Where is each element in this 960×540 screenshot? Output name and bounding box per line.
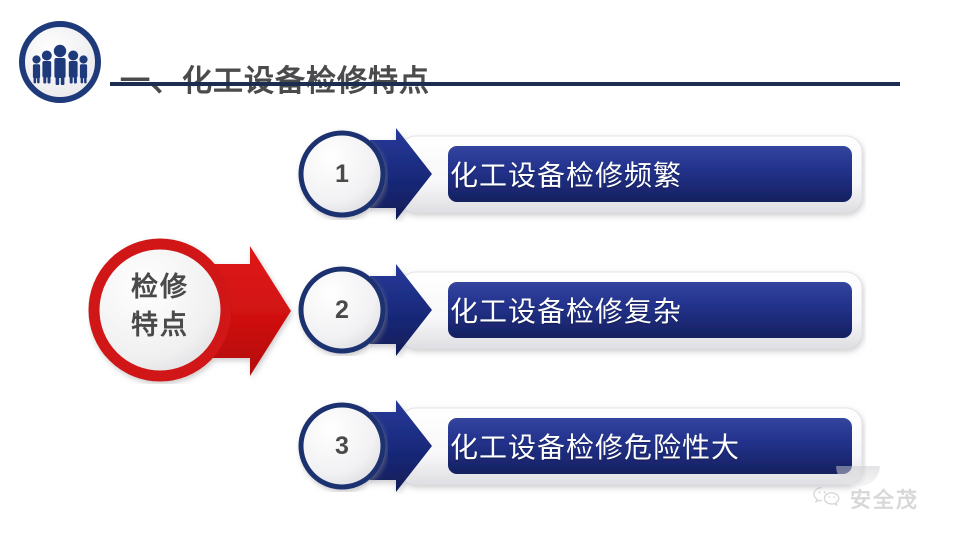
header-divider bbox=[110, 82, 900, 86]
step-circle[interactable] bbox=[296, 264, 388, 356]
feature-bar[interactable] bbox=[370, 398, 866, 494]
hub-badge-checkup-features bbox=[88, 238, 298, 384]
page-title: 一、化工设备检修特点 bbox=[120, 56, 430, 100]
feature-row[interactable]: 1 化工设备检修频繁 bbox=[296, 126, 866, 222]
step-circle[interactable] bbox=[296, 400, 388, 492]
feature-row[interactable]: 2 化工设备检修复杂 bbox=[296, 262, 866, 358]
slide-canvas: 一、化工设备检修特点 bbox=[0, 0, 960, 540]
feature-row[interactable]: 3 化工设备检修危险性大 bbox=[296, 398, 866, 494]
watermark: 安全茂 bbox=[812, 484, 919, 514]
feature-bar[interactable] bbox=[370, 262, 866, 358]
step-circle[interactable] bbox=[296, 128, 388, 220]
watermark-text: 安全茂 bbox=[850, 484, 919, 514]
feature-bar[interactable] bbox=[370, 126, 866, 222]
group-of-people-icon bbox=[19, 21, 101, 103]
wechat-logo-icon bbox=[812, 485, 842, 514]
